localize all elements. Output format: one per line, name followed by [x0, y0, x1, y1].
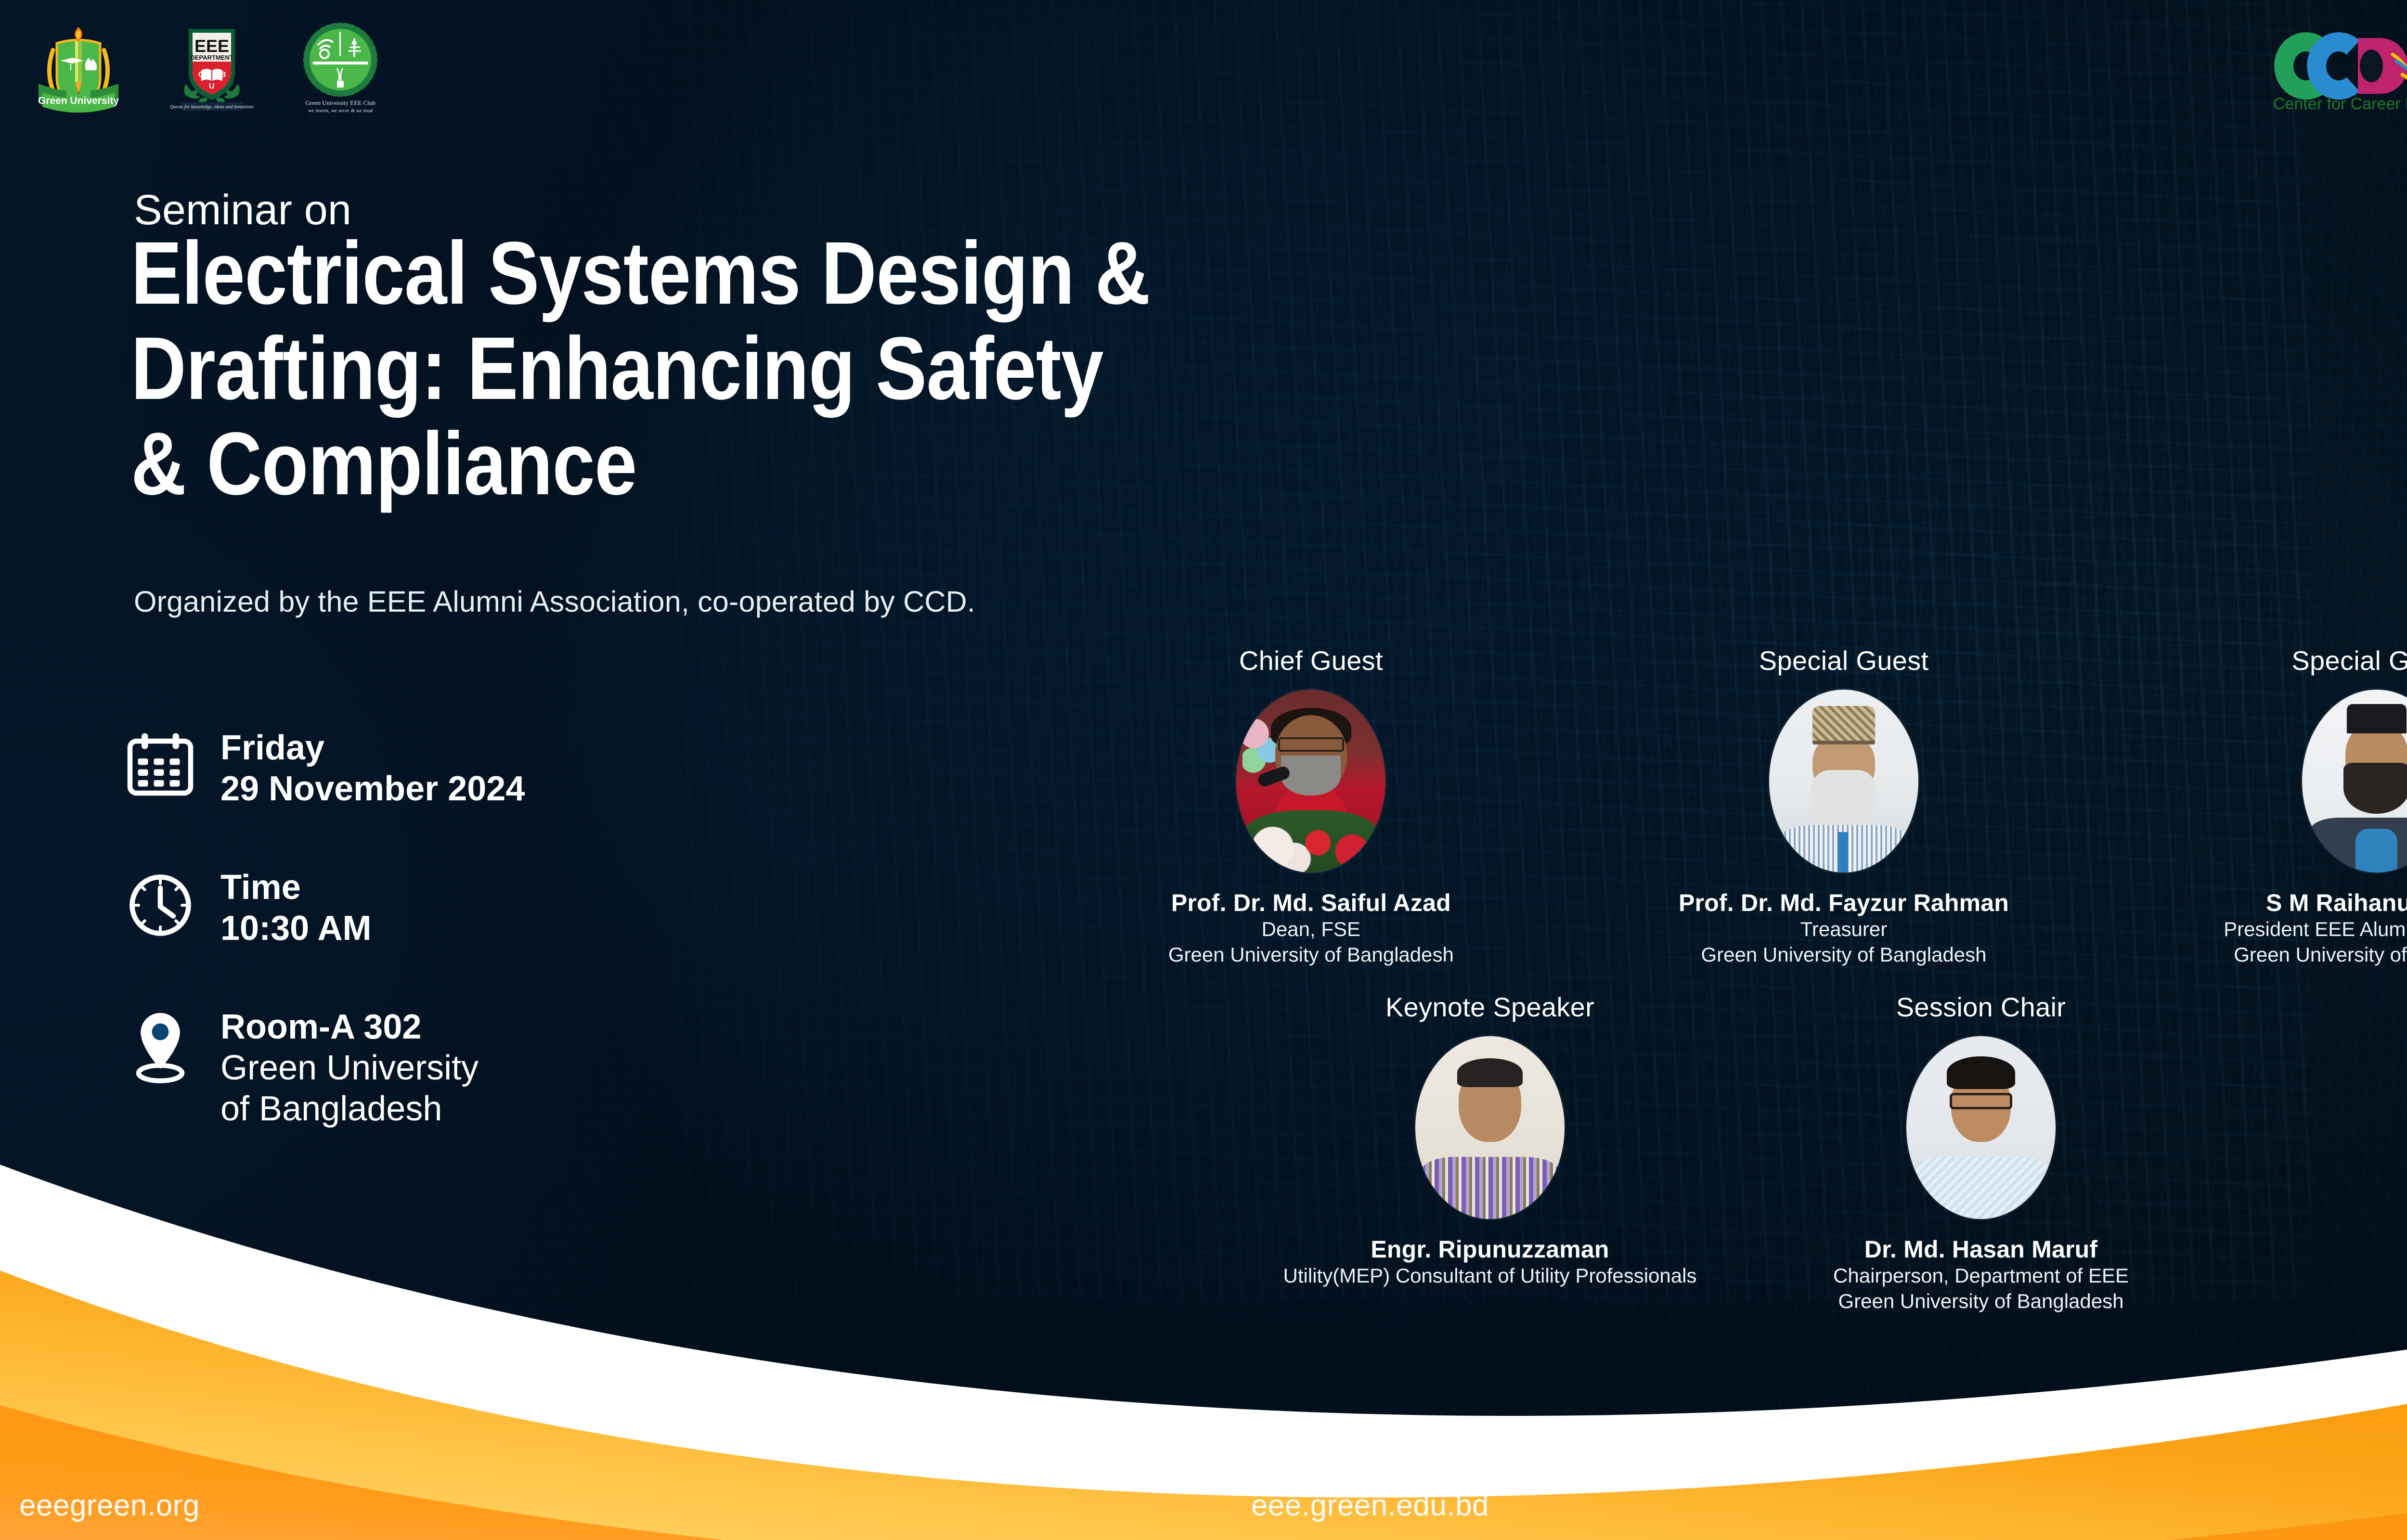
guest-card-special-2: Special Guest S M Raihanul Islam Preside…	[2110, 645, 2407, 968]
calendar-icon	[124, 727, 220, 802]
svg-text:we invent, we serve & we lead: we invent, we serve & we lead	[308, 108, 373, 114]
guest-name: Prof. Dr. Md. Saiful Azad	[1171, 889, 1451, 917]
portrait-raihanul-islam	[2302, 690, 2407, 873]
guest-affiliation-2: Green University of Bangladesh	[1701, 942, 1987, 968]
guest-card-chief: Chief Guest Prof. Dr. Md. Saiful Azad De…	[1045, 645, 1578, 968]
guest-name: S M Raihanul Islam	[2266, 889, 2407, 917]
event-date: 29 November 2024	[220, 769, 525, 809]
organizer-subtitle: Organized by the EEE Alumni Association,…	[134, 585, 975, 618]
guest-affiliation-1: Treasurer	[1800, 917, 1888, 942]
guest-role: Keynote Speaker	[1385, 991, 1594, 1023]
green-university-eee-club-logo: Green University EEE Club we invent, we …	[295, 20, 386, 116]
right-logo-group: Center for Career Development	[2264, 19, 2407, 118]
green-university-logo: Green University	[28, 20, 129, 116]
event-day: Friday	[220, 728, 525, 769]
center-for-career-development-logo: Center for Career Development	[2264, 21, 2407, 117]
portrait-fayzur-rahman	[1769, 690, 1918, 873]
venue-room: Room-A 302	[220, 1007, 479, 1048]
guest-affiliation-2: Green University of Bangladesh	[1168, 942, 1454, 968]
svg-text:B: B	[220, 71, 226, 79]
guest-role: Session Chair	[1896, 991, 2066, 1023]
event-time-value: 10:30 AM	[220, 908, 371, 949]
guest-role: Special Guest	[1759, 645, 1929, 676]
svg-text:Center for Career Development: Center for Career Development	[2273, 95, 2407, 113]
guest-role: Chief Guest	[1239, 645, 1383, 676]
footer-link-dept[interactable]: eee.green.edu.bd	[0, 1489, 2407, 1523]
eee-department-logo: EEE DEPARTMENT G B U Quests for knowledg…	[164, 20, 260, 116]
title-line-3: & Compliance	[131, 417, 1414, 512]
left-logo-group: Green University EEE DEPARTMENT G B U	[28, 20, 386, 116]
svg-text:EEE: EEE	[194, 36, 229, 56]
guest-row-top: Chief Guest Prof. Dr. Md. Saiful Azad De…	[1045, 645, 2407, 968]
clock-icon	[124, 866, 220, 941]
event-date-row: Friday 29 November 2024	[124, 727, 525, 809]
guest-affiliation-1: President EEE Alumni Accociation	[2224, 917, 2407, 942]
svg-text:Green University EEE Club: Green University EEE Club	[305, 99, 375, 106]
guest-card-special-1: Special Guest Prof. Dr. Md. Fayzur Rahma…	[1578, 645, 2110, 968]
svg-text:Quests for knowledge, ideas an: Quests for knowledge, ideas and inventio…	[170, 104, 254, 110]
svg-text:G: G	[198, 71, 204, 79]
event-time-label: Time	[220, 867, 371, 908]
guest-affiliation-1: Dean, FSE	[1262, 917, 1360, 942]
title-line-1: Electrical Systems Design &	[131, 226, 1414, 321]
page-title: Electrical Systems Design & Drafting: En…	[131, 226, 1414, 512]
title-line-2: Drafting: Enhancing Safety	[131, 321, 1414, 417]
footer-links: eeegreen.org eee.green.edu.bd fb.com/eee…	[0, 1444, 2407, 1540]
guest-role: Special Guest	[2291, 645, 2407, 676]
guest-name: Prof. Dr. Md. Fayzur Rahman	[1679, 889, 2009, 917]
guest-affiliation-2: Green University of Bangladesh	[2234, 942, 2407, 968]
svg-text:U: U	[209, 82, 215, 90]
portrait-saiful-azad	[1236, 690, 1385, 873]
seminar-poster: Green University EEE DEPARTMENT G B U	[0, 0, 2407, 1540]
event-time-row: Time 10:30 AM	[124, 866, 525, 949]
svg-text:DEPARTMENT: DEPARTMENT	[190, 54, 233, 61]
svg-text:Green University: Green University	[38, 95, 119, 106]
